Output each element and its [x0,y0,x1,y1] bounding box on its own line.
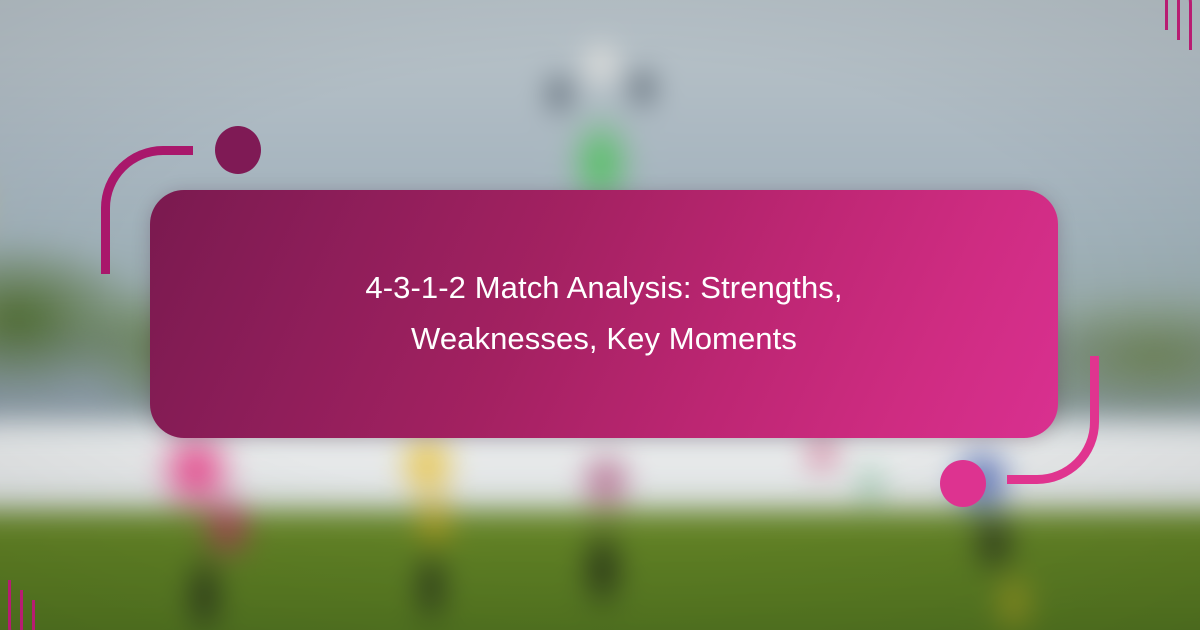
accent-dot-bottom-right-icon [940,460,986,507]
share-card-canvas: 4-3-1-2 Match Analysis: Strengths, Weakn… [0,0,1200,630]
title-card: 4-3-1-2 Match Analysis: Strengths, Weakn… [150,190,1058,438]
accent-dot-top-left-icon [215,126,261,174]
page-title: 4-3-1-2 Match Analysis: Strengths, Weakn… [294,263,914,364]
